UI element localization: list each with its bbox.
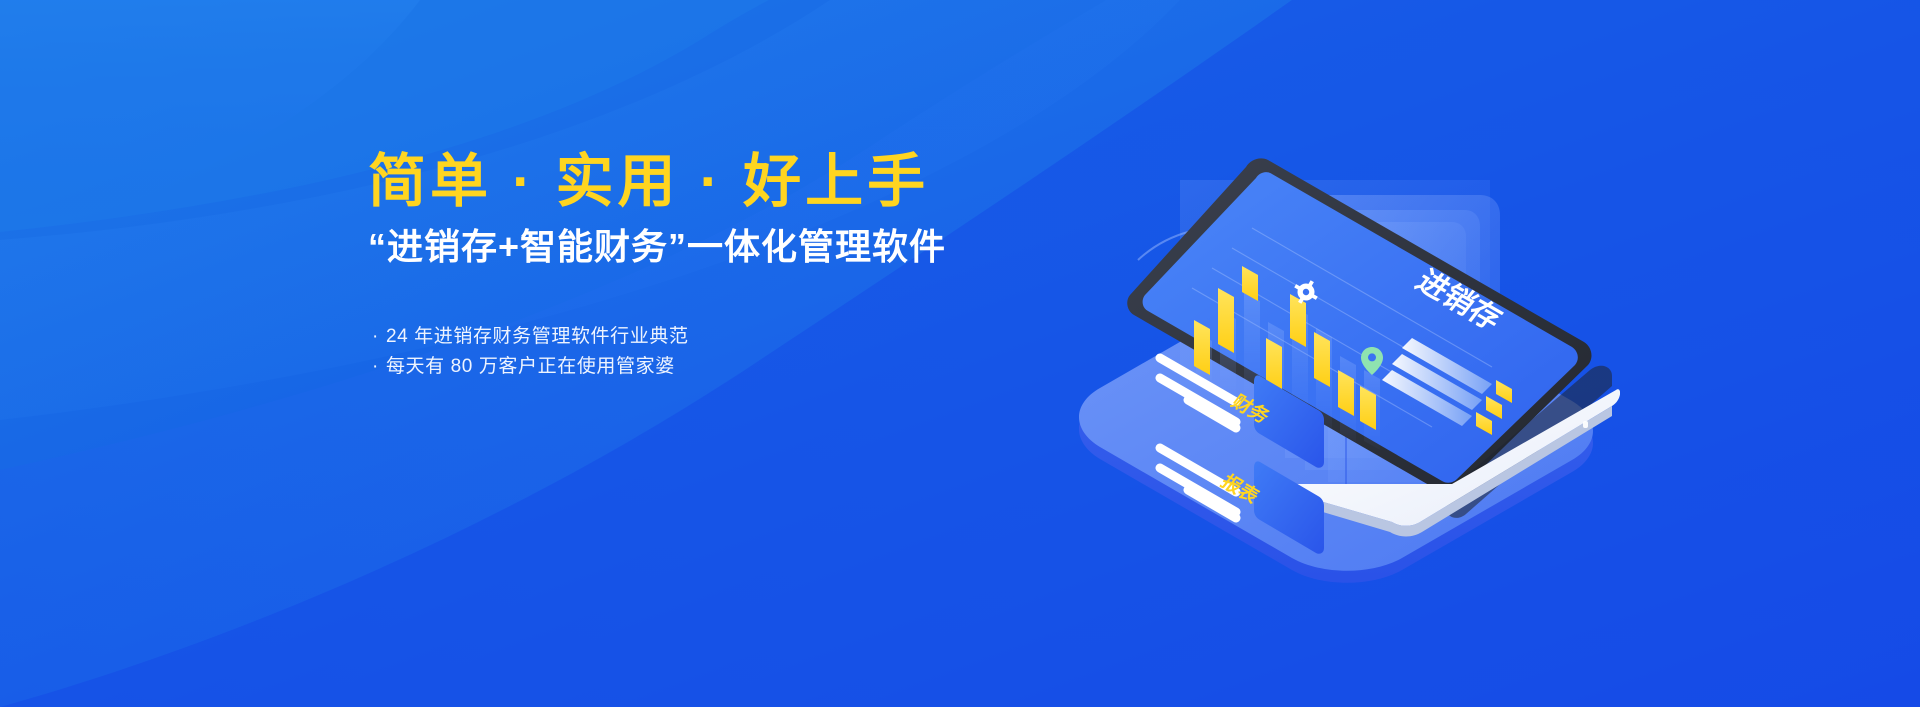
chart-bar: [1194, 320, 1210, 375]
feature-list: ·24 年进销存财务管理软件行业典范 ·每天有 80 万客户正在使用管家婆: [372, 322, 1088, 382]
list-item: ·每天有 80 万客户正在使用管家婆: [372, 352, 1088, 382]
list-item: ·24 年进销存财务管理软件行业典范: [372, 322, 1088, 352]
bullet-dot-icon: ·: [372, 326, 379, 347]
list-item-label: 24 年进销存财务管理软件行业典范: [386, 326, 689, 347]
isometric-laptop-illustration: 进销存: [1060, 70, 1620, 590]
hero-copy: 简单 · 实用 · 好上手 “进销存+智能财务”一体化管理软件 ·24 年进销存…: [368, 150, 1088, 382]
hero-banner: 简单 · 实用 · 好上手 “进销存+智能财务”一体化管理软件 ·24 年进销存…: [0, 0, 1920, 707]
list-item-label: 每天有 80 万客户正在使用管家婆: [386, 356, 675, 377]
chart-bar: [1218, 288, 1234, 353]
chart-bar: [1290, 294, 1306, 347]
decorative-speck: [1583, 421, 1588, 428]
bullet-dot-icon: ·: [372, 356, 379, 377]
page-title: 简单 · 实用 · 好上手: [368, 150, 1088, 215]
page-subtitle: “进销存+智能财务”一体化管理软件: [368, 225, 1088, 268]
chart-bar: [1314, 332, 1330, 387]
